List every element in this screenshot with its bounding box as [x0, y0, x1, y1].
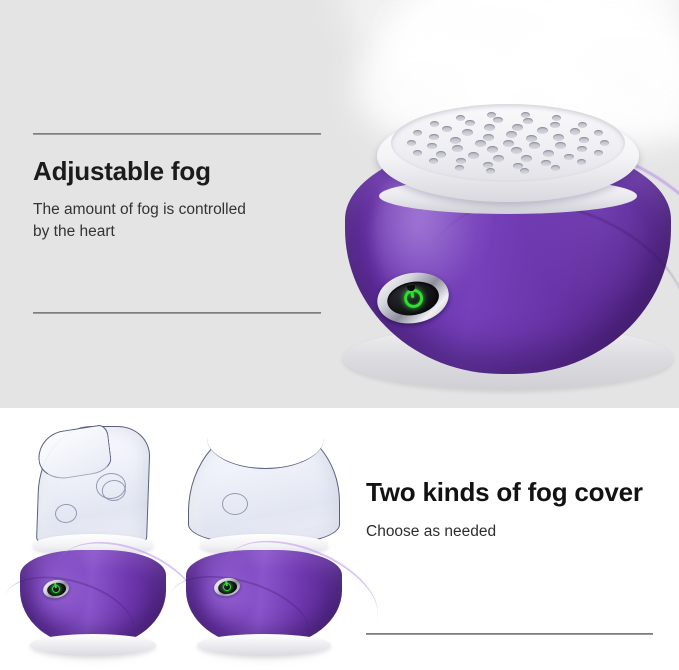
power-button-face	[217, 579, 238, 595]
lid-vent-hole	[551, 165, 560, 171]
lid-vent-hole	[455, 165, 464, 171]
lid-vent-hole	[555, 142, 566, 149]
feature-block-fog-cover: Two kinds of fog cover Choose as needed	[366, 478, 654, 541]
divider-bottom	[366, 633, 653, 635]
lid-vent-hole	[506, 131, 517, 138]
lid-vent-hole	[483, 134, 494, 141]
feature-title: Two kinds of fog cover	[366, 478, 654, 507]
lid-vent-hole	[521, 112, 530, 118]
lid-vent-hole	[484, 124, 495, 131]
panel-adjustable-fog: Adjustable fog The amount of fog is cont…	[0, 0, 679, 408]
lid-vent-hole	[579, 137, 589, 144]
lid-vent-hole	[427, 143, 437, 150]
lid-vent-hole	[537, 127, 548, 134]
lid-vent-hole	[493, 117, 503, 124]
cover-highlight-ring	[55, 504, 78, 523]
lid-vent-hole	[577, 159, 586, 165]
feature-subtitle-line-1: The amount of fog is controlled	[33, 201, 246, 218]
lid-vent-hole	[594, 130, 603, 136]
lid-vent-hole	[543, 150, 554, 157]
lid-vent-hole	[523, 118, 533, 125]
lid-vent-hole	[413, 150, 422, 156]
lid-vent-hole	[600, 140, 609, 146]
lid-vent-hole	[493, 155, 504, 162]
lid-vent-hole	[512, 124, 523, 131]
lid-vent-hole	[541, 160, 551, 167]
divider-bottom	[33, 312, 321, 314]
steam-puff	[340, 0, 450, 55]
narrow-nose-steam-cover-unit	[20, 422, 166, 660]
lid-vent-hole	[553, 134, 564, 141]
lid-vent-hole	[462, 129, 473, 136]
lid-vent-hole	[503, 140, 514, 147]
unit-base-rim	[30, 634, 156, 656]
wide-fog-cover-dip	[207, 408, 325, 469]
divider-bottom-wrap	[366, 633, 653, 635]
lid-vent-hole	[407, 140, 416, 146]
steam-puff	[415, 0, 555, 15]
lid-vent-hole	[511, 147, 522, 154]
lid-vent-hole	[564, 154, 574, 161]
unit-base-rim	[197, 634, 331, 656]
power-icon	[222, 582, 231, 591]
power-button-face	[46, 581, 67, 597]
lid-vent-hole	[520, 168, 529, 174]
lid-vent-hole	[456, 158, 466, 165]
panel-two-kinds-of-fog-cover: Two kinds of fog cover Choose as needed	[0, 408, 679, 670]
lid-vent-hole	[552, 115, 561, 121]
divider-top	[33, 133, 321, 135]
lid-vent-hole	[475, 140, 486, 147]
lid-vent-hole	[550, 122, 560, 129]
lid-vent-hole	[430, 121, 439, 127]
divider-bottom-wrap	[33, 312, 321, 314]
lid-vent-hole	[487, 112, 496, 118]
lid-vent-hole	[465, 120, 475, 127]
steam-puff	[560, 0, 679, 60]
wide-fog-cover	[188, 422, 341, 544]
lid-vent-hole	[529, 142, 540, 149]
lid-vent-hole	[486, 168, 495, 174]
cover-highlight-ring	[222, 493, 248, 515]
lid-vent-hole	[570, 128, 580, 135]
lid-vent-hole	[577, 146, 587, 153]
lid-vent-hole	[429, 158, 438, 164]
facial-steamer-base-unit	[337, 58, 679, 392]
narrow-fog-cover-spout	[35, 424, 112, 483]
lid-vent-hole	[487, 146, 498, 153]
lid-vent-hole	[468, 152, 479, 159]
wide-face-steam-cover-unit	[186, 420, 342, 660]
lid-vent-hole	[578, 122, 587, 128]
cover-highlight-ring	[101, 480, 126, 501]
feature-block-adjustable-fog: Adjustable fog The amount of fog is cont…	[33, 133, 321, 244]
lid-vent-hole	[429, 134, 439, 141]
lid-vent-hole	[526, 135, 537, 142]
product-feature-page: Adjustable fog The amount of fog is cont…	[0, 0, 679, 670]
lid-vent-hole	[436, 151, 446, 158]
feature-subtitle: Choose as needed	[366, 523, 654, 541]
feature-subtitle-line-2: by the heart	[33, 223, 115, 240]
lid-vent-hole	[594, 150, 603, 156]
lid-vent-hole	[450, 137, 461, 144]
lid-vent-hole	[456, 115, 465, 121]
lid-vent-hole	[413, 130, 422, 136]
feature-title: Adjustable fog	[33, 157, 321, 186]
lid-vent-hole	[452, 145, 463, 152]
feature-subtitle: The amount of fog is controlled by the h…	[33, 199, 321, 244]
lid-vent-hole	[521, 155, 532, 162]
power-icon	[402, 287, 424, 309]
device-perforated-lid	[391, 104, 625, 182]
lid-vent-hole	[442, 126, 452, 133]
power-button-face	[385, 277, 442, 319]
power-icon	[51, 584, 60, 593]
narrow-fog-cover	[35, 426, 150, 544]
